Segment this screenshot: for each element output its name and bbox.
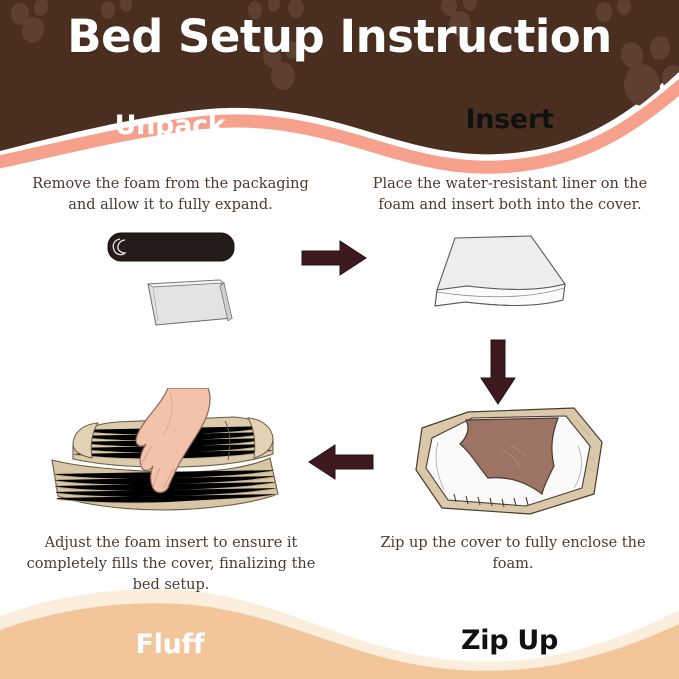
step-label-unpack: Unpack [0,110,340,141]
page-title: Bed Setup Instruction [0,10,679,63]
arrow-down-icon [478,338,518,406]
caption-unpack: Remove the foam from the packaging and a… [18,174,323,216]
liner-sheet-icon [148,280,232,325]
zipping-cover-illustration [398,398,618,523]
rolled-foam-icon [108,233,234,261]
foam-roll-and-liner-illustration [100,228,250,338]
hand-fluffing-bed-illustration [22,388,297,528]
step-label-zipup: Zip Up [340,625,679,656]
step-label-fluff: Fluff [0,629,340,660]
caption-insert: Place the water-resistant liner on the f… [360,174,660,216]
bed-setup-instruction-infographic: Bed Setup Instruction Unpack Insert Fluf… [0,0,679,679]
step-label-insert: Insert [340,104,679,135]
caption-fluff: Adjust the foam insert to ensure it comp… [22,533,320,596]
arrow-left-icon [305,442,375,482]
foam-in-cover-illustration [415,228,575,338]
caption-zipup: Zip up the cover to fully enclose the fo… [368,533,658,575]
arrow-right-icon [300,238,370,278]
cover-with-foam-icon [435,236,565,306]
